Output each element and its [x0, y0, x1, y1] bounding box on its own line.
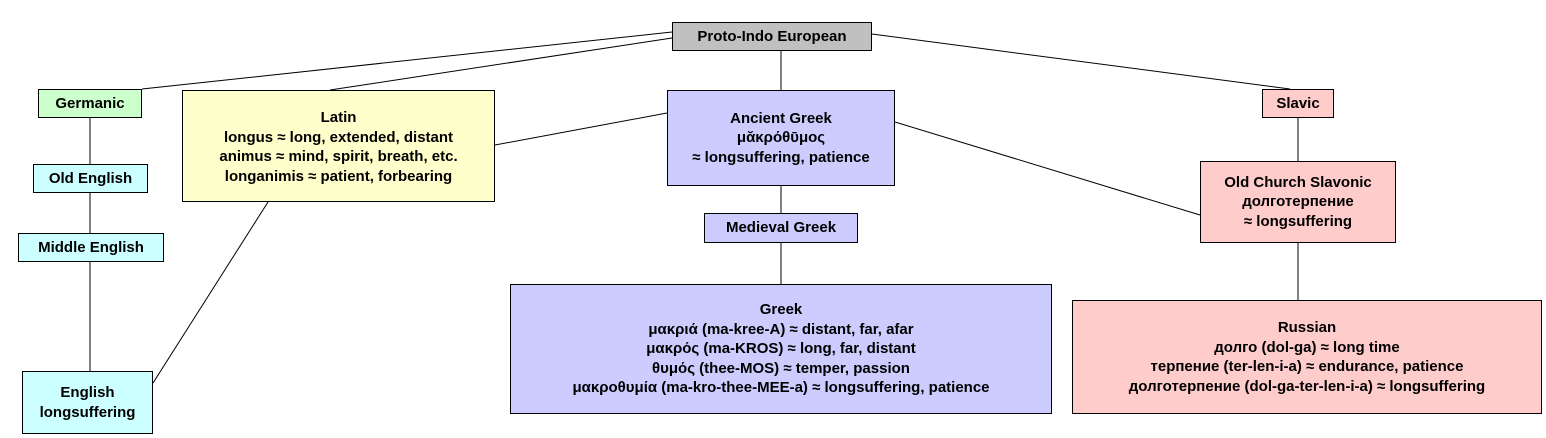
edge-latin-to-ancient-greek — [495, 113, 667, 145]
node-latin[interactable]: Latin longus ≈ long, extended, distant a… — [182, 90, 495, 202]
node-title: Russian — [1278, 318, 1336, 338]
node-line: μακριά (ma-kree-A) ≈ distant, far, afar — [648, 320, 913, 340]
node-title: Greek — [760, 300, 803, 320]
edge-ancient-greek-to-ocs — [895, 122, 1200, 215]
node-title: Medieval Greek — [726, 218, 836, 238]
node-slavic[interactable]: Slavic — [1262, 89, 1334, 118]
node-title: Latin — [321, 108, 357, 128]
node-title: Old English — [49, 169, 132, 189]
node-medieval-greek[interactable]: Medieval Greek — [704, 213, 858, 243]
node-line: долготерпение — [1242, 192, 1354, 212]
node-line: ≈ longsuffering, patience — [692, 148, 869, 168]
edge-pie-to-slavic — [872, 34, 1290, 89]
node-title: Germanic — [55, 94, 124, 114]
node-title: Old Church Slavonic — [1224, 173, 1372, 193]
node-old-church-slavonic[interactable]: Old Church Slavonic долготерпение ≈ long… — [1200, 161, 1396, 243]
node-title: Middle English — [38, 238, 144, 258]
node-title: Ancient Greek — [730, 109, 832, 129]
node-old-english[interactable]: Old English — [33, 164, 148, 193]
node-ancient-greek[interactable]: Ancient Greek μᾰκρόθῡμος ≈ longsuffering… — [667, 90, 895, 186]
node-line: θυμός (thee-MOS) ≈ temper, passion — [652, 359, 910, 379]
node-line: μακροθυμία (ma-kro-thee-MEE-a) ≈ longsuf… — [572, 378, 989, 398]
node-germanic[interactable]: Germanic — [38, 89, 142, 118]
etymology-diagram: Proto-Indo European Germanic Latin longu… — [0, 0, 1546, 438]
node-proto-indo-european[interactable]: Proto-Indo European — [672, 22, 872, 51]
node-middle-english[interactable]: Middle English — [18, 233, 164, 262]
node-line: долго (dol-ga) ≈ long time — [1214, 338, 1399, 358]
node-line: μᾰκρόθῡμος — [737, 128, 825, 148]
node-line: долготерпение (dol-ga-ter-len-i-a) ≈ lon… — [1129, 377, 1485, 397]
node-title: English — [60, 383, 114, 403]
node-line: longanimis ≈ patient, forbearing — [225, 167, 452, 187]
node-line: ≈ longsuffering — [1244, 212, 1352, 232]
node-line: терпение (ter-len-i-a) ≈ endurance, pati… — [1151, 357, 1464, 377]
edge-pie-to-latin — [330, 38, 672, 90]
edge-latin-to-english — [153, 202, 268, 383]
node-english[interactable]: English longsuffering — [22, 371, 153, 434]
node-line: longus ≈ long, extended, distant — [224, 128, 453, 148]
node-line: longsuffering — [40, 403, 136, 423]
node-russian[interactable]: Russian долго (dol-ga) ≈ long time терпе… — [1072, 300, 1542, 414]
node-line: animus ≈ mind, spirit, breath, etc. — [219, 147, 457, 167]
node-title: Slavic — [1276, 94, 1319, 114]
node-title: Proto-Indo European — [697, 27, 846, 47]
node-line: μακρός (ma-KROS) ≈ long, far, distant — [646, 339, 916, 359]
node-greek[interactable]: Greek μακριά (ma-kree-A) ≈ distant, far,… — [510, 284, 1052, 414]
edge-pie-to-germanic — [142, 32, 672, 89]
